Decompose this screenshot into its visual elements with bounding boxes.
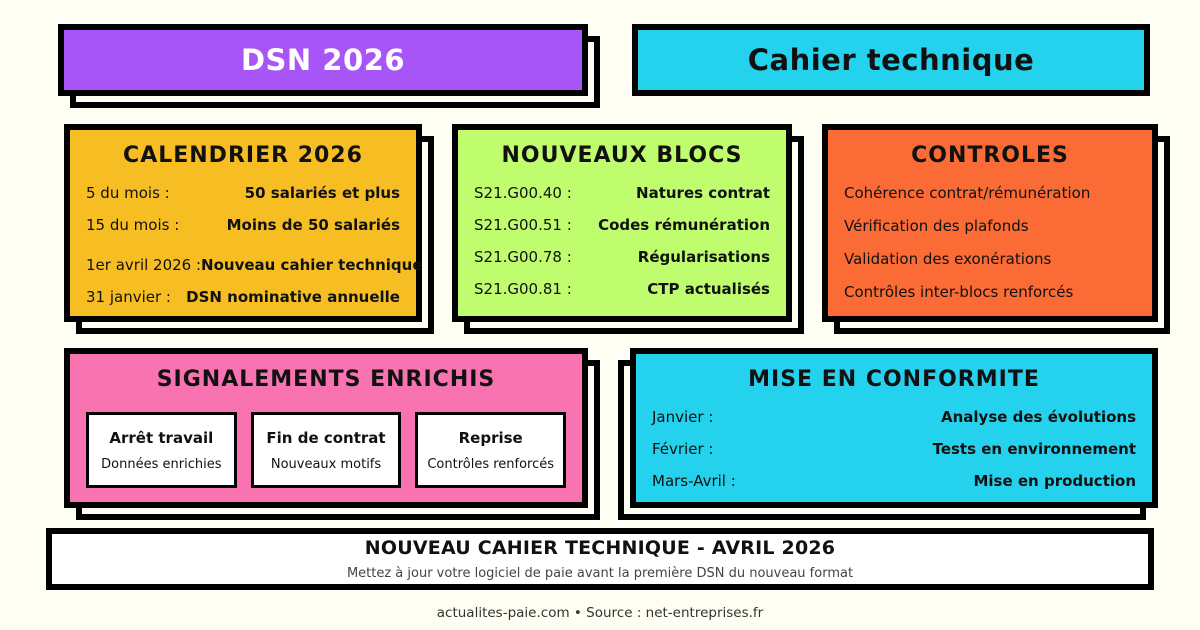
panel-signalements-face: SIGNALEMENTS ENRICHIS Arrêt travail Donn… xyxy=(64,348,588,508)
row-value: Mise en production xyxy=(973,472,1136,490)
card-title: Arrêt travail xyxy=(95,431,228,446)
row-label: Mars-Avril : xyxy=(652,472,736,490)
header-cahier-technique: Cahier technique xyxy=(632,24,1150,96)
row-label: S21.G00.78 : xyxy=(474,248,572,266)
table-row: S21.G00.40 : Natures contrat xyxy=(474,184,770,202)
table-row: Février : Tests en environnement xyxy=(652,440,1136,458)
row-value: Natures contrat xyxy=(636,184,770,202)
header-dsn-2026: DSN 2026 xyxy=(58,24,588,96)
list-item: Vérification des plafonds xyxy=(844,217,1136,235)
panel-calendrier-face: CALENDRIER 2026 5 du mois : 50 salariés … xyxy=(64,124,422,322)
panel-mise-en-conformite-face: MISE EN CONFORMITE Janvier : Analyse des… xyxy=(630,348,1158,508)
panel-nouveaux-blocs-title: NOUVEAUX BLOCS xyxy=(474,144,770,168)
row-value: Nouveau cahier technique xyxy=(201,256,422,274)
header-cahier-technique-face: Cahier technique xyxy=(632,24,1150,96)
controles-bullet-list: Cohérence contrat/rémunération Vérificat… xyxy=(844,184,1136,301)
panel-signalements: SIGNALEMENTS ENRICHIS Arrêt travail Donn… xyxy=(64,348,588,508)
table-row: 31 janvier : DSN nominative annuelle xyxy=(86,288,400,306)
list-item: Fin de contrat Nouveaux motifs xyxy=(251,412,402,488)
row-label: 15 du mois : xyxy=(86,216,179,234)
row-label: S21.G00.81 : xyxy=(474,280,572,298)
card-subtitle: Contrôles renforcés xyxy=(424,458,557,471)
row-value: Tests en environnement xyxy=(933,440,1136,458)
bottom-banner-title: NOUVEAU CAHIER TECHNIQUE - AVRIL 2026 xyxy=(365,539,835,558)
infographic-canvas: DSN 2026 Cahier technique CALENDRIER 202… xyxy=(0,0,1200,630)
table-row: 1er avril 2026 : Nouveau cahier techniqu… xyxy=(86,256,400,274)
panel-controles-face: CONTROLES Cohérence contrat/rémunération… xyxy=(822,124,1158,322)
row-value: Codes rémunération xyxy=(598,216,770,234)
header-cahier-technique-title: Cahier technique xyxy=(748,46,1035,75)
row-value: Moins de 50 salariés xyxy=(227,216,400,234)
table-row: 15 du mois : Moins de 50 salariés xyxy=(86,216,400,234)
header-dsn-2026-face: DSN 2026 xyxy=(58,24,588,96)
nouveaux-blocs-row-list: S21.G00.40 : Natures contrat S21.G00.51 … xyxy=(474,184,770,298)
list-item: Arrêt travail Données enrichies xyxy=(86,412,237,488)
table-row: 5 du mois : 50 salariés et plus xyxy=(86,184,400,202)
card-title: Reprise xyxy=(424,431,557,446)
footer-source: actualites-paie.com • Source : net-entre… xyxy=(0,605,1200,621)
row-label: S21.G00.51 : xyxy=(474,216,572,234)
panel-controles: CONTROLES Cohérence contrat/rémunération… xyxy=(822,124,1158,322)
header-dsn-2026-title: DSN 2026 xyxy=(241,46,405,75)
row-label: 1er avril 2026 : xyxy=(86,256,201,274)
row-label: Janvier : xyxy=(652,408,713,426)
panel-controles-title: CONTROLES xyxy=(844,144,1136,168)
list-item: Contrôles inter-blocs renforcés xyxy=(844,283,1136,301)
panel-signalements-title: SIGNALEMENTS ENRICHIS xyxy=(86,368,566,392)
table-row: S21.G00.78 : Régularisations xyxy=(474,248,770,266)
card-subtitle: Données enrichies xyxy=(95,458,228,471)
row-label: 31 janvier : xyxy=(86,288,171,306)
row-label: Février : xyxy=(652,440,713,458)
table-row: Janvier : Analyse des évolutions xyxy=(652,408,1136,426)
table-row: S21.G00.81 : CTP actualisés xyxy=(474,280,770,298)
bottom-banner: NOUVEAU CAHIER TECHNIQUE - AVRIL 2026 Me… xyxy=(46,528,1154,590)
row-value: Analyse des évolutions xyxy=(941,408,1136,426)
panel-nouveaux-blocs: NOUVEAUX BLOCS S21.G00.40 : Natures cont… xyxy=(452,124,792,322)
panel-calendrier-title: CALENDRIER 2026 xyxy=(86,144,400,168)
panel-mise-en-conformite-title: MISE EN CONFORMITE xyxy=(652,368,1136,392)
panel-mise-en-conformite: MISE EN CONFORMITE Janvier : Analyse des… xyxy=(630,348,1158,508)
card-title: Fin de contrat xyxy=(260,431,393,446)
row-value: DSN nominative annuelle xyxy=(186,288,400,306)
row-label: 5 du mois : xyxy=(86,184,170,202)
panel-calendrier: CALENDRIER 2026 5 du mois : 50 salariés … xyxy=(64,124,422,322)
list-item: Reprise Contrôles renforcés xyxy=(415,412,566,488)
panel-nouveaux-blocs-face: NOUVEAUX BLOCS S21.G00.40 : Natures cont… xyxy=(452,124,792,322)
card-subtitle: Nouveaux motifs xyxy=(260,458,393,471)
row-value: 50 salariés et plus xyxy=(245,184,400,202)
conformite-row-list: Janvier : Analyse des évolutions Février… xyxy=(652,408,1136,490)
list-item: Validation des exonérations xyxy=(844,250,1136,268)
calendrier-row-list: 5 du mois : 50 salariés et plus 15 du mo… xyxy=(86,184,400,306)
bottom-banner-subtitle: Mettez à jour votre logiciel de paie ava… xyxy=(347,567,853,580)
list-item: Cohérence contrat/rémunération xyxy=(844,184,1136,202)
row-label: S21.G00.40 : xyxy=(474,184,572,202)
table-row: S21.G00.51 : Codes rémunération xyxy=(474,216,770,234)
row-value: CTP actualisés xyxy=(647,280,770,298)
table-row: Mars-Avril : Mise en production xyxy=(652,472,1136,490)
signalements-card-list: Arrêt travail Données enrichies Fin de c… xyxy=(86,412,566,488)
row-value: Régularisations xyxy=(638,248,770,266)
